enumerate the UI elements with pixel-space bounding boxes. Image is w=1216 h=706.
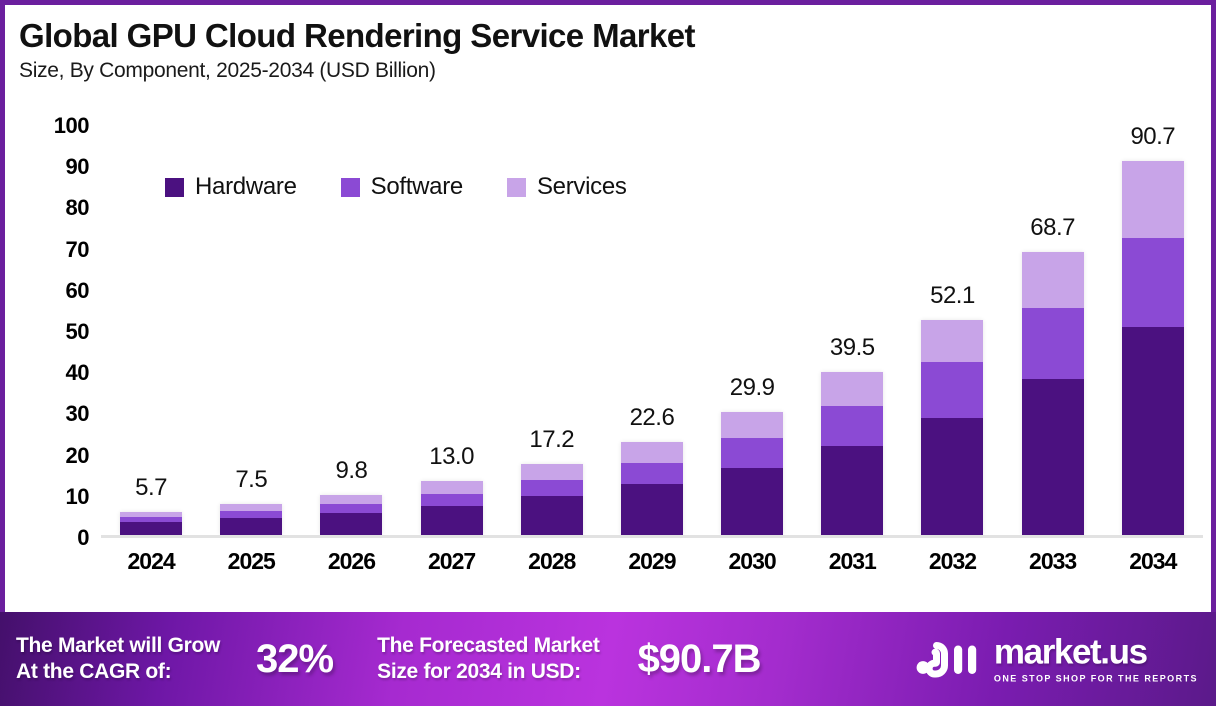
bar-segment-software[interactable] (220, 511, 282, 518)
x-axis-tick-2031: 2031 (821, 548, 883, 575)
bar-segment-services[interactable] (421, 481, 483, 493)
bar-segment-hardware[interactable] (320, 513, 382, 535)
y-axis-tick-20: 20 (66, 443, 89, 469)
forecast-fact: The Forecasted Market Size for 2034 in U… (377, 633, 760, 684)
bar-segment-software[interactable] (1122, 238, 1184, 327)
bar-group-2032[interactable]: 52.1 (921, 123, 983, 535)
bar-segment-services[interactable] (320, 495, 382, 504)
bar-group-2029[interactable]: 22.6 (621, 123, 683, 535)
bar-segment-hardware[interactable] (521, 496, 583, 535)
cagr-value: 32% (256, 637, 333, 682)
bar-total-label: 5.7 (135, 474, 167, 502)
x-axis-tick-2027: 2027 (421, 548, 483, 575)
bar-stack[interactable] (320, 495, 382, 535)
bar-segment-hardware[interactable] (721, 468, 783, 535)
y-axis-tick-100: 100 (54, 113, 89, 139)
bar-total-label: 22.6 (630, 404, 675, 432)
forecast-label-line1: The Forecasted Market (377, 634, 599, 657)
y-axis-tick-80: 80 (66, 195, 89, 221)
y-axis-tick-50: 50 (66, 319, 89, 345)
bar-stack[interactable] (1122, 161, 1184, 535)
bar-total-label: 68.7 (1030, 214, 1075, 242)
bar-segment-services[interactable] (521, 464, 583, 480)
legend-item-hardware[interactable]: Hardware (165, 173, 297, 201)
cagr-label-line1: The Market will Grow (16, 634, 220, 657)
x-axis-tick-2024: 2024 (120, 548, 182, 575)
cagr-fact: The Market will Grow At the CAGR of: 32% (16, 633, 333, 684)
logo-text-block: market.us ONE STOP SHOP FOR THE REPORTS (994, 635, 1198, 684)
bar-stack[interactable] (120, 512, 182, 535)
x-axis-tick-2030: 2030 (721, 548, 783, 575)
bar-segment-software[interactable] (721, 438, 783, 468)
forecast-value: $90.7B (638, 637, 761, 682)
legend-label: Services (537, 173, 627, 201)
x-axis-baseline (101, 535, 1203, 538)
bar-total-label: 29.9 (730, 374, 775, 402)
bar-total-label: 7.5 (235, 466, 267, 494)
x-axis-tick-2025: 2025 (220, 548, 282, 575)
bar-group-2030[interactable]: 29.9 (721, 123, 783, 535)
bar-segment-hardware[interactable] (1022, 379, 1084, 535)
x-axis-tick-2032: 2032 (921, 548, 983, 575)
x-axis-tick-2033: 2033 (1022, 548, 1084, 575)
legend-swatch-icon (165, 178, 184, 197)
bar-stack[interactable] (721, 412, 783, 535)
x-axis-tick-2029: 2029 (621, 548, 683, 575)
bar-segment-hardware[interactable] (621, 484, 683, 535)
bar-stack[interactable] (1022, 252, 1084, 535)
bar-stack[interactable] (220, 504, 282, 535)
bar-group-2033[interactable]: 68.7 (1022, 123, 1084, 535)
market-us-logo[interactable]: market.us ONE STOP SHOP FOR THE REPORTS (916, 635, 1198, 684)
y-axis-tick-70: 70 (66, 237, 89, 263)
bar-total-label: 17.2 (529, 426, 574, 454)
x-axis-tick-2034: 2034 (1122, 548, 1184, 575)
title-block: Global GPU Cloud Rendering Service Marke… (19, 17, 695, 83)
y-axis-tick-40: 40 (66, 360, 89, 386)
bar-segment-software[interactable] (1022, 308, 1084, 379)
bar-segment-hardware[interactable] (821, 446, 883, 535)
bar-stack[interactable] (921, 320, 983, 535)
bar-segment-hardware[interactable] (1122, 327, 1184, 535)
bar-total-label: 9.8 (335, 457, 367, 485)
bar-total-label: 52.1 (930, 282, 975, 310)
bar-group-2031[interactable]: 39.5 (821, 123, 883, 535)
bar-segment-services[interactable] (721, 412, 783, 438)
y-axis-tick-90: 90 (66, 154, 89, 180)
y-axis-tick-30: 30 (66, 401, 89, 427)
bar-segment-services[interactable] (1122, 161, 1184, 238)
bar-total-label: 90.7 (1130, 123, 1175, 151)
cagr-label-line2: At the CAGR of: (16, 660, 171, 683)
footer-banner: The Market will Grow At the CAGR of: 32%… (0, 612, 1216, 706)
y-axis: 1009080706050403020100 (27, 123, 89, 538)
forecast-label-line2: Size for 2034 in USD: (377, 660, 581, 683)
bar-segment-software[interactable] (320, 504, 382, 513)
market-us-logo-mark (916, 636, 982, 682)
chart-legend: HardwareSoftwareServices (165, 173, 627, 201)
y-axis-tick-0: 0 (77, 525, 89, 551)
bar-stack[interactable] (521, 464, 583, 535)
bar-total-label: 39.5 (830, 334, 875, 362)
bar-segment-services[interactable] (220, 504, 282, 511)
bar-segment-hardware[interactable] (421, 506, 483, 535)
legend-item-services[interactable]: Services (507, 173, 627, 201)
infographic-root: Global GPU Cloud Rendering Service Marke… (0, 0, 1216, 706)
bar-group-2034[interactable]: 90.7 (1122, 123, 1184, 535)
bar-segment-hardware[interactable] (220, 518, 282, 535)
legend-label: Software (371, 173, 463, 201)
x-axis-tick-2026: 2026 (320, 548, 382, 575)
forecast-label: The Forecasted Market Size for 2034 in U… (377, 633, 599, 684)
bar-segment-services[interactable] (921, 320, 983, 361)
y-axis-tick-60: 60 (66, 278, 89, 304)
bar-segment-software[interactable] (821, 406, 883, 446)
cagr-label: The Market will Grow At the CAGR of: (16, 633, 220, 684)
x-axis-tick-2028: 2028 (521, 548, 583, 575)
bar-segment-software[interactable] (921, 362, 983, 418)
bar-segment-services[interactable] (821, 372, 883, 406)
bar-segment-services[interactable] (1022, 252, 1084, 308)
logo-tagline: ONE STOP SHOP FOR THE REPORTS (994, 674, 1198, 684)
logo-wordmark: market.us (994, 635, 1198, 670)
page-title: Global GPU Cloud Rendering Service Marke… (19, 17, 695, 55)
legend-swatch-icon (507, 178, 526, 197)
y-axis-tick-10: 10 (66, 484, 89, 510)
bar-segment-software[interactable] (421, 494, 483, 506)
bar-segment-hardware[interactable] (921, 418, 983, 535)
bar-segment-software[interactable] (621, 463, 683, 484)
bar-stack[interactable] (421, 481, 483, 535)
bar-stack[interactable] (621, 442, 683, 535)
bar-segment-software[interactable] (521, 480, 583, 496)
page-subtitle: Size, By Component, 2025-2034 (USD Billi… (19, 59, 695, 83)
bar-segment-hardware[interactable] (120, 522, 182, 535)
chart-card: Global GPU Cloud Rendering Service Marke… (0, 0, 1216, 612)
legend-label: Hardware (195, 173, 297, 201)
bar-segment-services[interactable] (621, 442, 683, 463)
bar-total-label: 13.0 (429, 443, 474, 471)
bar-stack[interactable] (821, 372, 883, 535)
legend-swatch-icon (341, 178, 360, 197)
x-axis: 2024202520262027202820292030203120322033… (101, 548, 1203, 575)
legend-item-software[interactable]: Software (341, 173, 463, 201)
